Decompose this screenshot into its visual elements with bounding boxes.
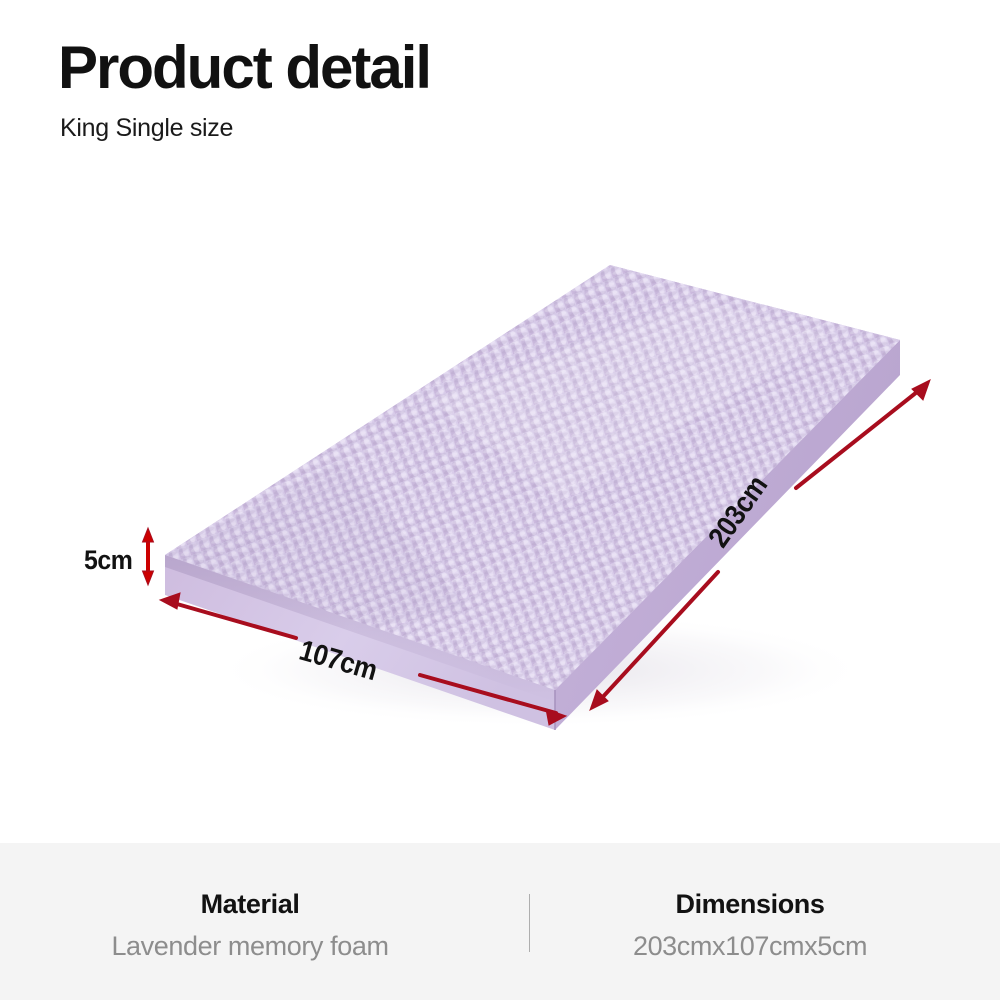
spec-value-material: Lavender memory foam bbox=[111, 931, 388, 962]
product-detail-page: Product detail King Single size bbox=[0, 0, 1000, 1000]
page-title: Product detail bbox=[58, 38, 758, 98]
product-image bbox=[0, 170, 1000, 830]
spec-divider bbox=[529, 894, 530, 952]
spec-bar: Material Lavender memory foam Dimensions… bbox=[0, 843, 1000, 1000]
page-subtitle: King Single size bbox=[60, 114, 758, 143]
spec-column-material: Material Lavender memory foam bbox=[0, 881, 500, 962]
spec-heading-dimensions: Dimensions bbox=[675, 889, 824, 920]
dimension-label-thickness: 5cm bbox=[84, 545, 132, 576]
spec-column-dimensions: Dimensions 203cmx107cmx5cm bbox=[500, 881, 1000, 962]
spec-value-dimensions: 203cmx107cmx5cm bbox=[633, 931, 867, 962]
foam-mattress-illustration bbox=[0, 170, 1000, 830]
arrow-thickness-5cm bbox=[143, 528, 154, 585]
header: Product detail King Single size bbox=[58, 38, 758, 143]
spec-heading-material: Material bbox=[201, 889, 300, 920]
